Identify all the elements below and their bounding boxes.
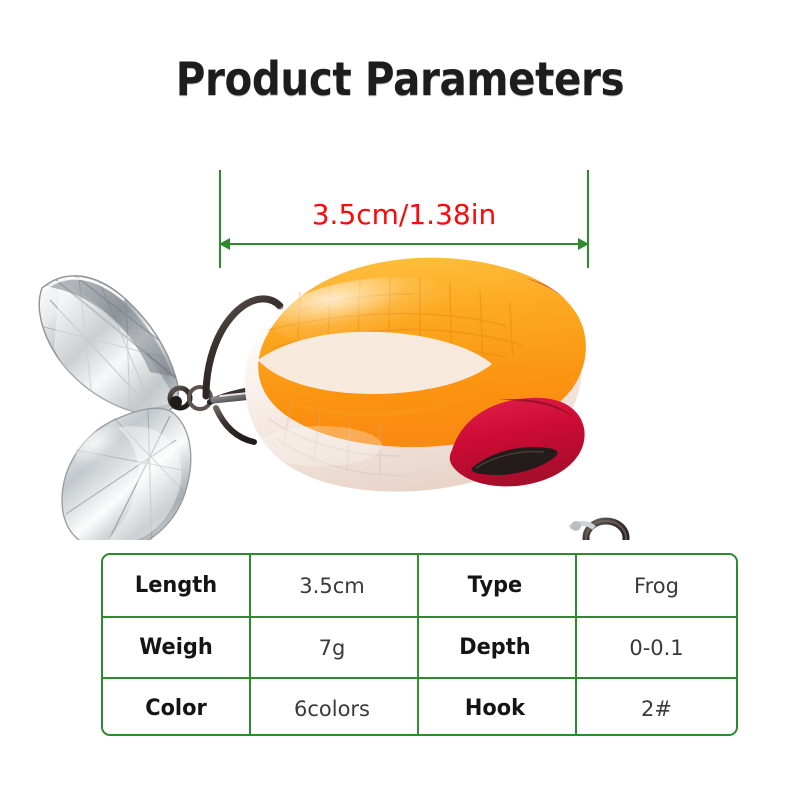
page-title: Product Parameters (48, 52, 752, 106)
spec-label-type: Type (417, 555, 571, 616)
arrow-right-icon (578, 238, 589, 250)
spinner-blade-upper (39, 268, 190, 420)
product-image-area: 3.5cm/1.38in (0, 150, 800, 540)
spec-value-type: Frog (575, 555, 736, 616)
dimension-arrow (219, 237, 589, 251)
dimension-arrow-bar (227, 243, 581, 245)
spec-label-weigh: Weigh (107, 618, 246, 677)
table-row: Length 3.5cm Type Frog (103, 555, 736, 616)
table-row: Weigh 7g Depth 0-0.1 (103, 616, 736, 677)
split-ring-line-tie (570, 521, 626, 540)
spec-table: Length 3.5cm Type Frog Weigh 7g Depth 0-… (101, 553, 738, 736)
spec-value-depth: 0-0.1 (575, 618, 736, 677)
soft-frog-body (245, 258, 586, 492)
spec-label-length: Length (107, 555, 246, 616)
spec-value-hook: 2# (575, 679, 736, 736)
dimension-label: 3.5cm/1.38in (219, 198, 589, 231)
table-row: Color 6colors Hook 2# (103, 677, 736, 736)
spinner-blade-lower (62, 408, 191, 540)
spec-value-color: 6colors (249, 679, 413, 736)
spec-value-length: 3.5cm (249, 555, 413, 616)
spec-label-hook: Hook (417, 679, 571, 736)
spec-value-weigh: 7g (249, 618, 413, 677)
spec-label-color: Color (107, 679, 246, 736)
spec-label-depth: Depth (417, 618, 571, 677)
